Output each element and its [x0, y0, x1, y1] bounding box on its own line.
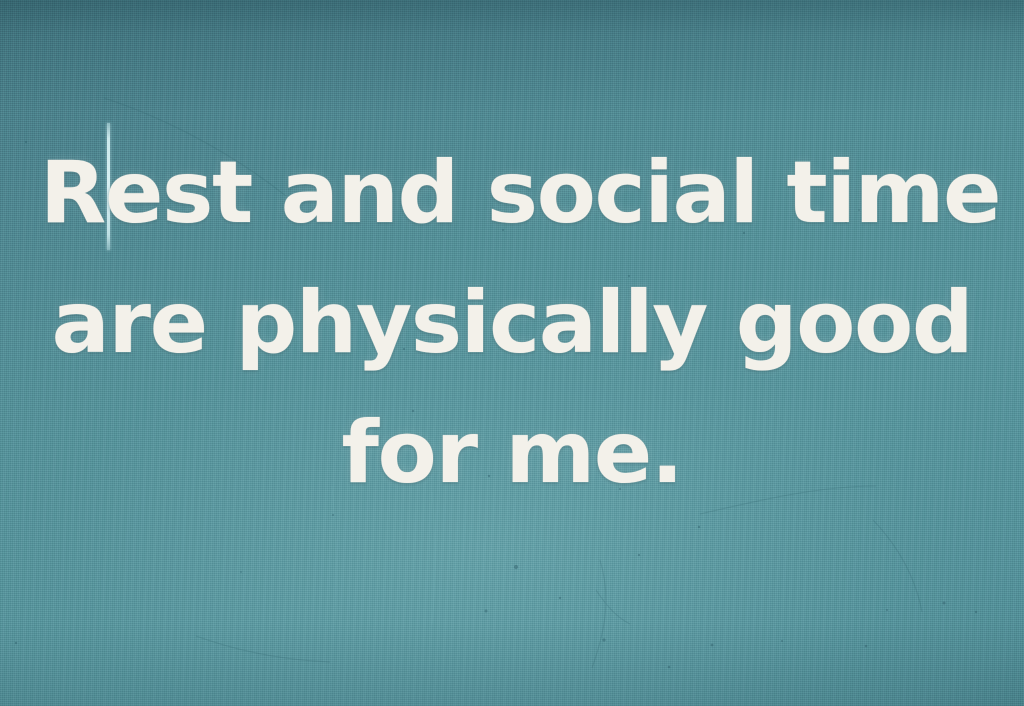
text-line-1: Rest and social time — [40, 128, 984, 258]
screen-photo: Rest and social time are physically good… — [0, 0, 1024, 706]
slide-text-block[interactable]: Rest and social time are physically good… — [0, 128, 1024, 518]
text-line-2: are physically good — [40, 258, 984, 388]
text-line-3: for me. — [40, 388, 984, 518]
